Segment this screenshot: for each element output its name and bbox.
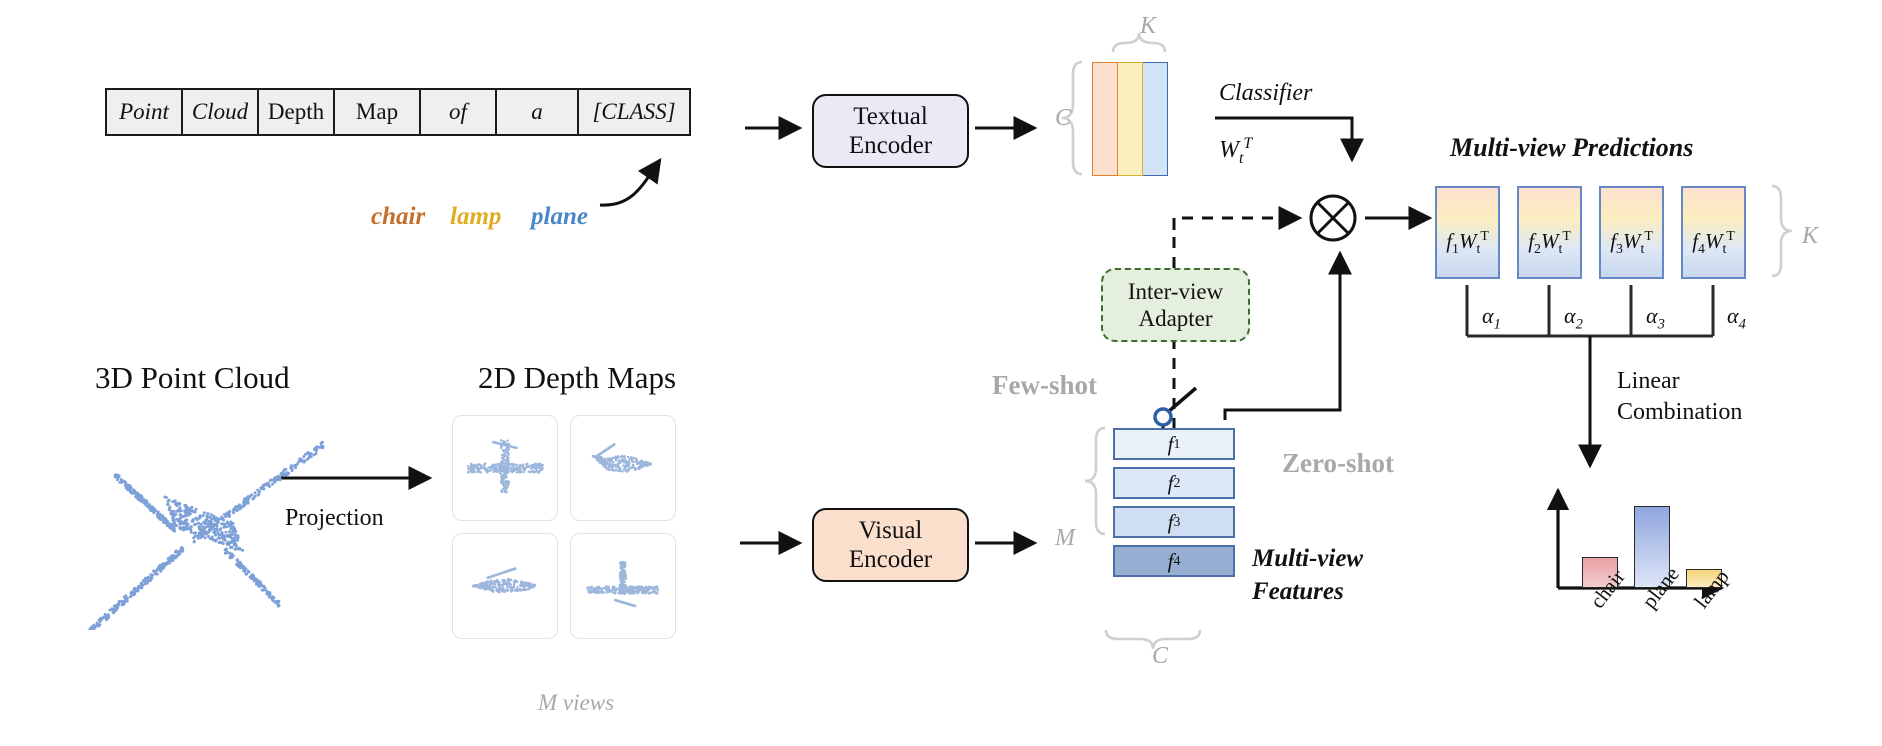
visual-encoder-line1: Visual: [859, 516, 923, 546]
depth-map-view-1[interactable]: [452, 415, 558, 521]
classifier-weight-label: WtT: [1219, 135, 1252, 168]
projection-label: Projection: [285, 505, 384, 532]
pred2-wsub: t: [1558, 241, 1562, 256]
pred1-wsup: T: [1480, 228, 1488, 243]
multi-view-predictions-title: Multi-view Predictions: [1450, 133, 1693, 163]
prediction-box-2[interactable]: f2WtT: [1517, 186, 1582, 279]
classifier-title: Classifier: [1219, 80, 1312, 107]
prediction-box-4[interactable]: f4WtT: [1681, 186, 1746, 279]
prompt-token-class[interactable]: [CLASS]: [579, 90, 689, 134]
prompt-token-depth[interactable]: Depth: [259, 90, 335, 134]
prediction-box-3[interactable]: f3WtT: [1599, 186, 1664, 279]
predictions-dim-label: K: [1802, 223, 1818, 250]
f2-sub: 2: [1173, 475, 1180, 491]
alpha1-sub: 1: [1494, 316, 1501, 332]
prompt-token-map[interactable]: Map: [335, 90, 421, 134]
alpha-label-1: α1: [1482, 303, 1501, 333]
alpha4-sub: 4: [1739, 316, 1746, 332]
multi-view-features-caption: Multi-view Features: [1252, 543, 1363, 608]
multi-view-features-stack: f1 f2 f3 f4: [1113, 428, 1235, 577]
prediction-bar-chart: [1558, 490, 1728, 588]
alpha2-sub: 2: [1576, 316, 1583, 332]
prompt-token-point[interactable]: Point: [107, 90, 183, 134]
linear-combination-line1: Linear: [1617, 366, 1742, 397]
pred3-wsub: t: [1640, 241, 1644, 256]
few-shot-label: Few-shot: [992, 370, 1097, 401]
feature-row-3[interactable]: f3: [1113, 506, 1235, 538]
depth-map-view-3[interactable]: [452, 533, 558, 639]
pred2-w: W: [1541, 229, 1559, 253]
textual-encoder-box[interactable]: Textual Encoder: [812, 94, 969, 168]
class-word-plane[interactable]: plane: [531, 203, 588, 231]
pred2-sub: 2: [1534, 241, 1541, 256]
features-dim-cols-label: C: [1152, 643, 1168, 670]
classifier-column-lamp: [1118, 62, 1143, 176]
alpha4-symbol: α: [1727, 303, 1739, 328]
matmul-operator: [1307, 192, 1359, 244]
adapter-line1: Inter-view: [1128, 278, 1223, 305]
depth-map-grid: [452, 415, 674, 637]
pred1-wsub: t: [1476, 241, 1480, 256]
classifier-weight-matrix: [1092, 62, 1168, 174]
classifier-column-plane: [1143, 62, 1168, 176]
prompt-token-of[interactable]: of: [421, 90, 497, 134]
textual-encoder-line2: Encoder: [849, 131, 932, 161]
feature-row-1[interactable]: f1: [1113, 428, 1235, 460]
pred3-sub: 3: [1616, 241, 1623, 256]
prompt-token-row: Point Cloud Depth Map of a [CLASS]: [105, 88, 691, 136]
pred1-sub: 1: [1452, 241, 1459, 256]
linear-combination-line2: Combination: [1617, 397, 1742, 428]
f4-sub: 4: [1173, 553, 1180, 569]
f3-sub: 3: [1173, 514, 1180, 530]
pred4-wsup: T: [1726, 228, 1734, 243]
visual-encoder-box[interactable]: Visual Encoder: [812, 508, 969, 582]
alpha3-sub: 3: [1658, 316, 1665, 332]
pred4-sub: 4: [1698, 241, 1705, 256]
features-dim-rows-label: M: [1055, 525, 1075, 552]
class-word-lamp[interactable]: lamp: [450, 203, 501, 231]
f1-sub: 1: [1173, 436, 1180, 452]
prompt-token-a[interactable]: a: [497, 90, 579, 134]
alpha1-symbol: α: [1482, 303, 1494, 328]
classifier-dim-cols-label: K: [1140, 13, 1156, 40]
views-caption-symbol: M: [538, 690, 557, 715]
alpha-label-3: α3: [1646, 303, 1665, 333]
pred4-wsub: t: [1722, 241, 1726, 256]
textual-encoder-line1: Textual: [853, 102, 928, 132]
weight-sup: T: [1243, 135, 1252, 152]
inter-view-adapter-box[interactable]: Inter-view Adapter: [1101, 268, 1250, 342]
point-cloud-title: 3D Point Cloud: [95, 360, 290, 396]
depth-map-view-4[interactable]: [570, 533, 676, 639]
visual-encoder-line2: Encoder: [849, 545, 932, 575]
depth-map-view-2[interactable]: [570, 415, 676, 521]
pred3-wsup: T: [1644, 228, 1652, 243]
pred3-w: W: [1623, 229, 1641, 253]
alpha-label-4: α4: [1727, 303, 1746, 333]
feature-row-4[interactable]: f4: [1113, 545, 1235, 577]
features-caption-line2: Features: [1252, 576, 1363, 609]
views-caption-word: views: [563, 690, 614, 715]
pred2-wsup: T: [1562, 228, 1570, 243]
alpha3-symbol: α: [1646, 303, 1658, 328]
m-views-caption: M views: [538, 690, 614, 716]
alpha-label-2: α2: [1564, 303, 1583, 333]
features-caption-line1: Multi-view: [1252, 543, 1363, 576]
feature-row-2[interactable]: f2: [1113, 467, 1235, 499]
classifier-column-chair: [1092, 62, 1118, 176]
depth-maps-title: 2D Depth Maps: [478, 360, 676, 396]
adapter-line2: Adapter: [1138, 305, 1212, 332]
alpha2-symbol: α: [1564, 303, 1576, 328]
prompt-token-cloud[interactable]: Cloud: [183, 90, 259, 134]
class-word-chair[interactable]: chair: [371, 203, 425, 231]
weight-symbol: W: [1219, 137, 1239, 163]
linear-combination-label: Linear Combination: [1617, 366, 1742, 428]
multi-view-prediction-boxes: f1WtT f2WtT f3WtT f4WtT: [1435, 186, 1746, 279]
pred1-w: W: [1459, 229, 1477, 253]
prediction-box-1[interactable]: f1WtT: [1435, 186, 1500, 279]
zero-shot-label: Zero-shot: [1282, 448, 1394, 479]
classifier-dim-rows-label: C: [1055, 105, 1071, 132]
pred4-w: W: [1705, 229, 1723, 253]
weight-sub: t: [1239, 150, 1243, 167]
